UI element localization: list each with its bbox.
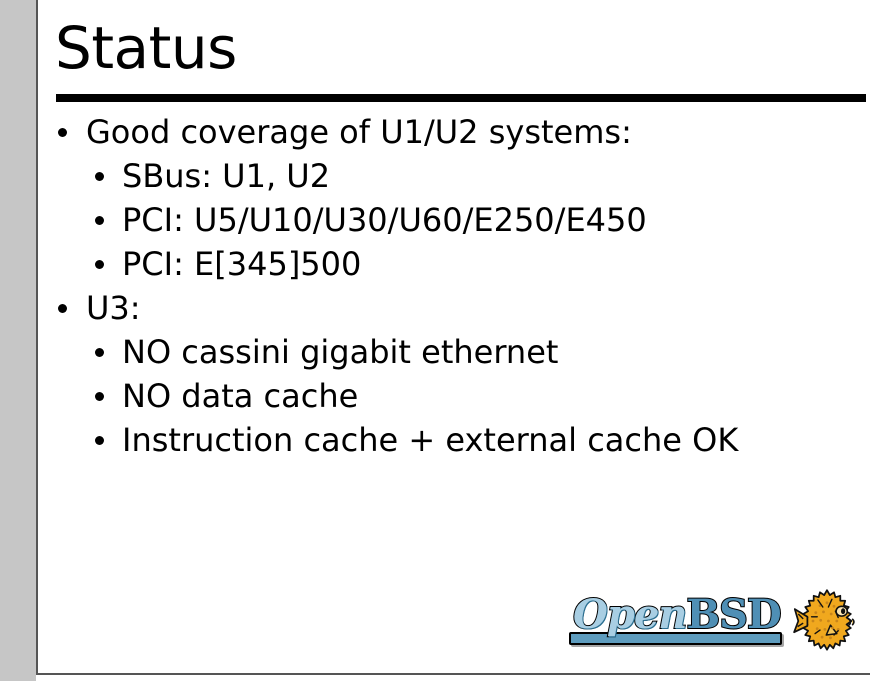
list-item-label: NO data cache	[122, 374, 358, 418]
bullet-dot-icon	[95, 436, 104, 445]
bottom-border-line	[36, 673, 870, 675]
wordmark-open-text: Open	[573, 591, 686, 638]
openbsd-wordmark: OpenBSD	[567, 592, 782, 644]
wordmark-text: OpenBSD	[573, 592, 781, 638]
list-item: SBus: U1, U2	[38, 154, 870, 198]
bullet-dot-icon	[58, 304, 67, 313]
list-item-label: PCI: U5/U10/U30/U60/E250/E450	[122, 198, 647, 242]
slide-content: Status Good coverage of U1/U2 systems: S…	[38, 0, 870, 673]
slide-canvas: Status Good coverage of U1/U2 systems: S…	[0, 0, 870, 681]
puffer-fish-icon	[792, 586, 862, 656]
bullet-dot-icon	[58, 128, 67, 137]
list-item-label: U3:	[86, 286, 141, 330]
list-item: Instruction cache + external cache OK	[38, 418, 870, 462]
bullet-list: Good coverage of U1/U2 systems: SBus: U1…	[38, 110, 870, 462]
bullet-dot-icon	[95, 392, 104, 401]
list-item: NO data cache	[38, 374, 870, 418]
list-item-label: Good coverage of U1/U2 systems:	[86, 110, 632, 154]
bullet-dot-icon	[95, 348, 104, 357]
left-gutter-band	[0, 0, 36, 681]
list-item: PCI: U5/U10/U30/U60/E250/E450	[38, 198, 870, 242]
list-item: NO cassini gigabit ethernet	[38, 330, 870, 374]
bullet-dot-icon	[95, 172, 104, 181]
bullet-dot-icon	[95, 260, 104, 269]
title-underline-rule	[56, 94, 866, 102]
list-item: PCI: E[345]500	[38, 242, 870, 286]
list-item-label: Instruction cache + external cache OK	[122, 418, 738, 462]
wordmark-bsd-text: BSD	[686, 591, 780, 638]
list-item-label: PCI: E[345]500	[122, 242, 361, 286]
bullet-dot-icon	[95, 216, 104, 225]
list-item: Good coverage of U1/U2 systems:	[38, 110, 870, 154]
openbsd-logo: OpenBSD	[567, 586, 862, 661]
list-item-label: SBus: U1, U2	[122, 154, 330, 198]
list-item-label: NO cassini gigabit ethernet	[122, 330, 558, 374]
page-title: Status	[55, 13, 237, 83]
list-item: U3:	[38, 286, 870, 330]
